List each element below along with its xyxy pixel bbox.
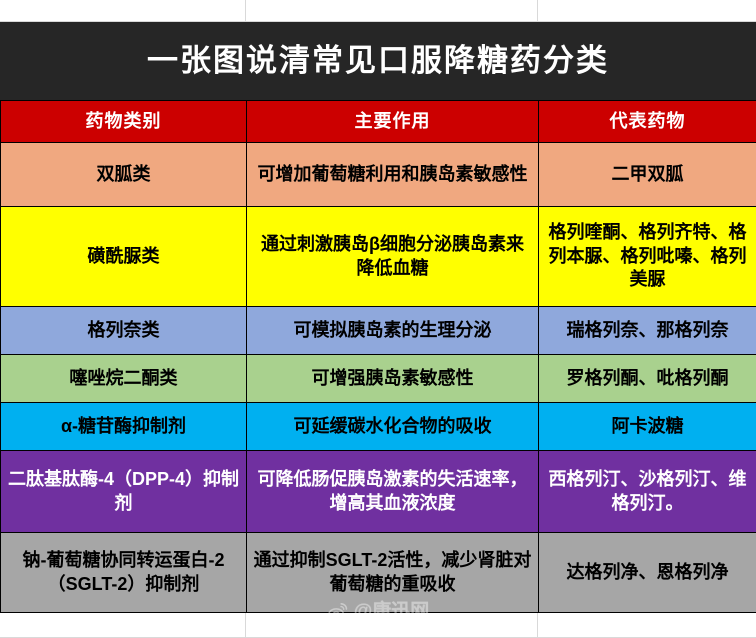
table-row: 格列奈类 可模拟胰岛素的生理分泌 瑞格列奈、那格列奈	[1, 307, 756, 355]
cell-drugs: 格列喹酮、格列齐特、格列本脲、格列吡嗪、格列美脲	[539, 207, 756, 307]
cell-effect: 通过刺激胰岛β细胞分泌胰岛素来降低血糖	[247, 207, 539, 307]
table-row: α-糖苷酶抑制剂 可延缓碳水化合物的吸收 阿卡波糖	[1, 403, 756, 451]
cell-effect: 可增加葡萄糖利用和胰岛素敏感性	[247, 143, 539, 207]
bottom-empty-cell-2	[246, 613, 538, 638]
cell-category: 二肽基肽酶-4（DPP-4）抑制剂	[1, 451, 247, 533]
table-row: 钠-葡萄糖协同转运蛋白-2（SGLT-2）抑制剂 通过抑制SGLT-2活性，减少…	[1, 533, 756, 613]
cell-drugs: 达格列净、恩格列净	[539, 533, 756, 613]
top-empty-cell-2	[246, 0, 538, 22]
bottom-empty-cell-1	[0, 613, 246, 638]
table-row: 二肽基肽酶-4（DPP-4）抑制剂 可降低肠促胰岛激素的失活速率，增高其血液浓度…	[1, 451, 756, 533]
column-header-category: 药物类别	[1, 101, 247, 143]
title-banner: 一张图说清常见口服降糖药分类	[0, 22, 756, 100]
header-row: 药物类别 主要作用 代表药物	[1, 101, 756, 143]
bottom-empty-row	[0, 613, 756, 638]
cell-effect: 可增强胰岛素敏感性	[247, 355, 539, 403]
cell-effect: 通过抑制SGLT-2活性，减少肾脏对葡萄糖的重吸收	[247, 533, 539, 613]
page-title: 一张图说清常见口服降糖药分类	[147, 44, 609, 78]
table-row: 噻唑烷二酮类 可增强胰岛素敏感性 罗格列酮、吡格列酮	[1, 355, 756, 403]
cell-category: 钠-葡萄糖协同转运蛋白-2（SGLT-2）抑制剂	[1, 533, 247, 613]
table-row: 双胍类 可增加葡萄糖利用和胰岛素敏感性 二甲双胍	[1, 143, 756, 207]
cell-drugs: 西格列汀、沙格列汀、维格列汀。	[539, 451, 756, 533]
cell-effect: 可降低肠促胰岛激素的失活速率，增高其血液浓度	[247, 451, 539, 533]
oral-antidiabetic-drug-table: 药物类别 主要作用 代表药物 双胍类 可增加葡萄糖利用和胰岛素敏感性 二甲双胍 …	[0, 100, 756, 613]
cell-category: 噻唑烷二酮类	[1, 355, 247, 403]
cell-drugs: 阿卡波糖	[539, 403, 756, 451]
table-header: 药物类别 主要作用 代表药物	[1, 101, 756, 143]
top-empty-row	[0, 0, 756, 22]
bottom-empty-cell-3	[538, 613, 756, 638]
infographic-page: 一张图说清常见口服降糖药分类 药物类别 主要作用 代表药物 双胍类 可增加葡萄糖…	[0, 0, 756, 637]
cell-drugs: 瑞格列奈、那格列奈	[539, 307, 756, 355]
cell-effect: 可模拟胰岛素的生理分泌	[247, 307, 539, 355]
table-row: 磺酰脲类 通过刺激胰岛β细胞分泌胰岛素来降低血糖 格列喹酮、格列齐特、格列本脲、…	[1, 207, 756, 307]
cell-effect: 可延缓碳水化合物的吸收	[247, 403, 539, 451]
column-header-drugs: 代表药物	[539, 101, 756, 143]
cell-category: α-糖苷酶抑制剂	[1, 403, 247, 451]
table-body: 双胍类 可增加葡萄糖利用和胰岛素敏感性 二甲双胍 磺酰脲类 通过刺激胰岛β细胞分…	[1, 143, 756, 613]
cell-drugs: 罗格列酮、吡格列酮	[539, 355, 756, 403]
top-empty-cell-3	[538, 0, 756, 22]
top-empty-cell-1	[0, 0, 246, 22]
cell-category: 格列奈类	[1, 307, 247, 355]
cell-category: 磺酰脲类	[1, 207, 247, 307]
column-header-effect: 主要作用	[247, 101, 539, 143]
cell-drugs: 二甲双胍	[539, 143, 756, 207]
cell-category: 双胍类	[1, 143, 247, 207]
